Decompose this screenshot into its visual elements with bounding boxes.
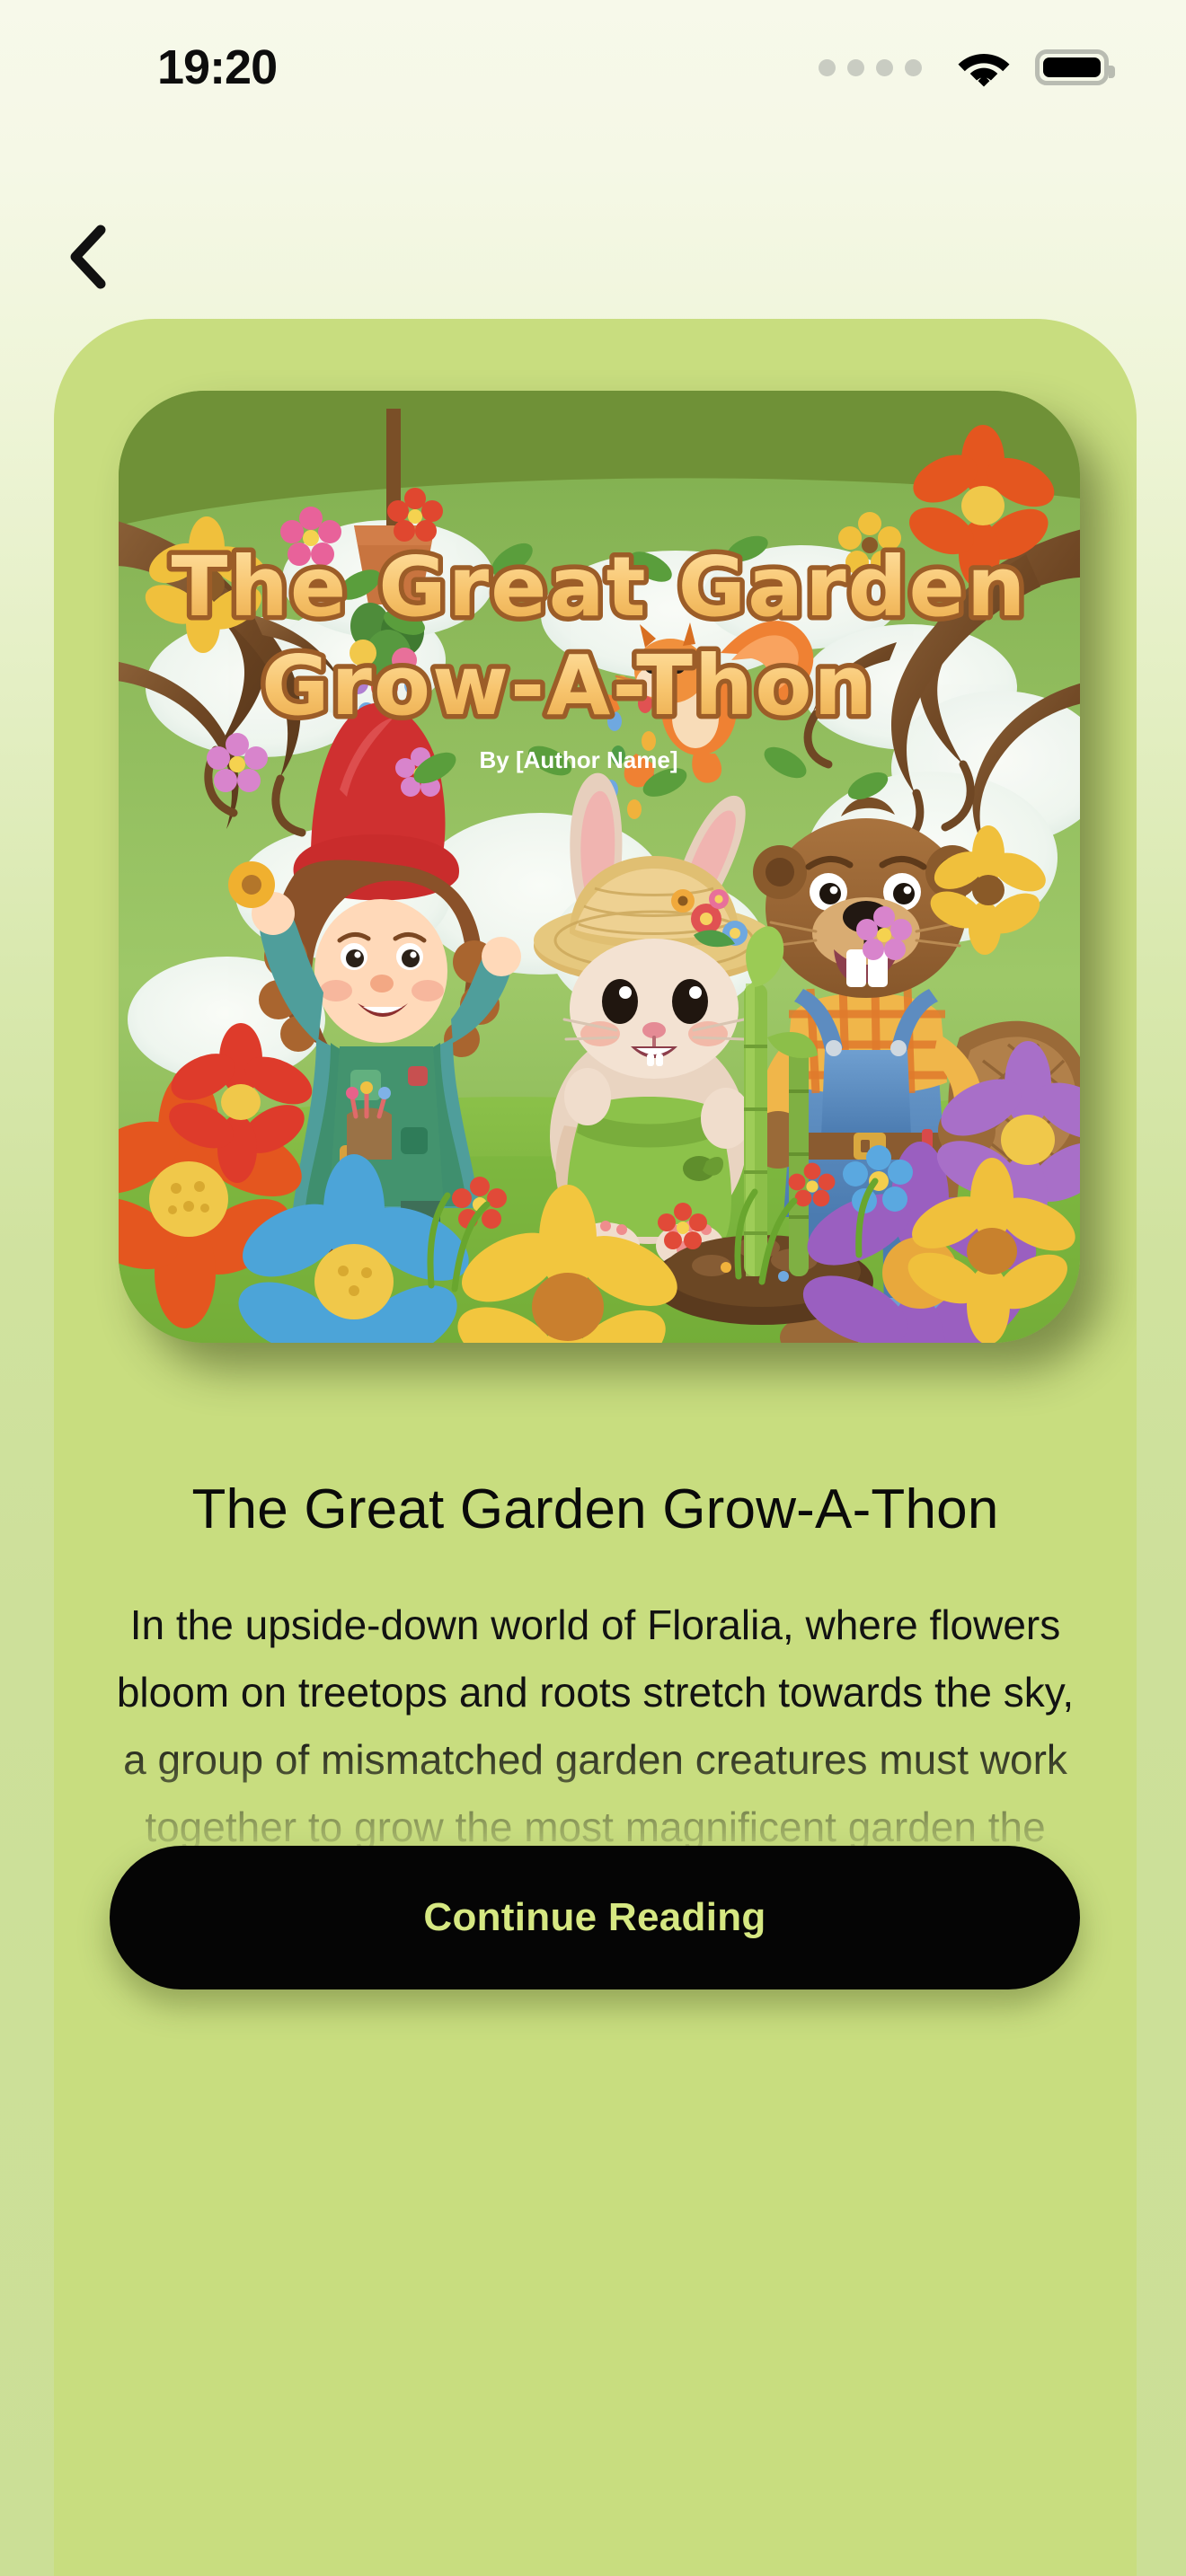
book-meta: The Great Garden Grow-A-Thon In the upsi…	[54, 1473, 1137, 1861]
wifi-icon	[956, 48, 1012, 87]
book-cover-image[interactable]: The Great Garden Grow-A-Thon By [Author …	[119, 391, 1080, 1343]
page-title: The Great Garden Grow-A-Thon	[93, 1473, 1097, 1547]
svg-text:Grow-A-Thon: Grow-A-Thon	[261, 638, 874, 734]
continue-reading-button[interactable]: Continue Reading	[110, 1846, 1080, 1989]
svg-text:By [Author Name]: By [Author Name]	[479, 746, 677, 773]
cellular-dots-icon	[819, 59, 922, 76]
status-bar: 19:20	[0, 0, 1186, 135]
book-description: In the upside-down world of Floralia, wh…	[93, 1592, 1097, 1861]
svg-text:The Great Garden: The Great Garden	[172, 539, 1028, 635]
back-button[interactable]	[43, 214, 129, 300]
book-detail-card: The Great Garden Grow-A-Thon By [Author …	[54, 319, 1137, 2576]
status-time: 19:20	[157, 40, 277, 95]
status-indicators	[819, 48, 1109, 87]
book-cover-shadow: The Great Garden Grow-A-Thon By [Author …	[119, 391, 1080, 1343]
battery-full-icon	[1035, 49, 1109, 85]
chevron-left-icon	[66, 225, 106, 289]
cover-illustration: The Great Garden Grow-A-Thon By [Author …	[119, 391, 1080, 1343]
book-description-container: In the upside-down world of Floralia, wh…	[93, 1592, 1097, 1861]
